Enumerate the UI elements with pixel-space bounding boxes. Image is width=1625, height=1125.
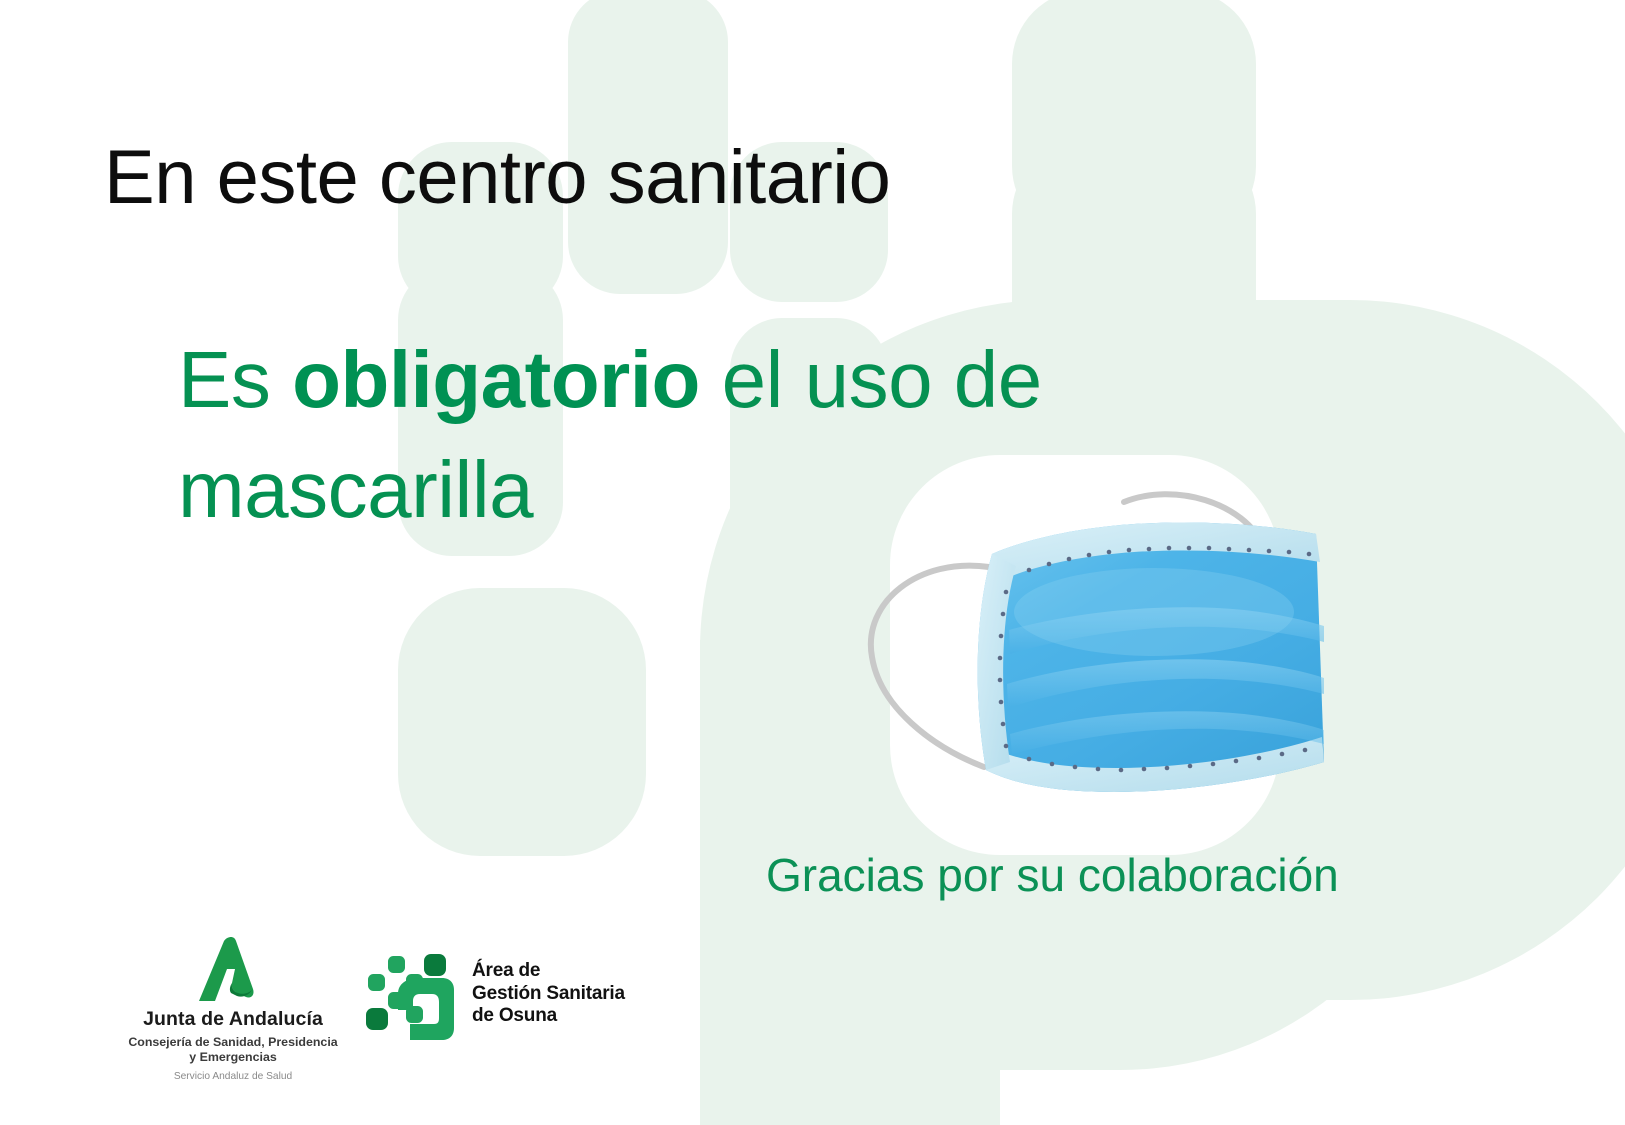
message-emphasis: obligatorio bbox=[292, 335, 700, 424]
message-prefix: Es bbox=[178, 335, 292, 424]
junta-footer: Servicio Andaluz de Salud bbox=[118, 1071, 348, 1082]
junta-title: Junta de Andalucía bbox=[118, 1008, 348, 1031]
junta-subtitle-line2: y Emergencias bbox=[118, 1050, 348, 1065]
ags-wordmark: Área de Gestión Sanitaria de Osuna bbox=[472, 960, 625, 1027]
poster-canvas: En este centro sanitario Es obligatorio … bbox=[0, 0, 1625, 1125]
page-title: En este centro sanitario bbox=[104, 140, 890, 216]
junta-de-andalucia-a-icon bbox=[191, 935, 275, 1005]
ags-osuna-dots-icon bbox=[358, 944, 458, 1044]
junta-subtitle: Consejería de Sanidad, Presidencia y Eme… bbox=[118, 1035, 348, 1065]
thanks-message: Gracias por su colaboración bbox=[766, 848, 1339, 902]
ags-line2: Gestión Sanitaria bbox=[472, 983, 625, 1005]
junta-subtitle-line1: Consejería de Sanidad, Presidencia bbox=[118, 1035, 348, 1050]
logo-junta-de-andalucia: Junta de Andalucía Consejería de Sanidad… bbox=[118, 935, 348, 1082]
ags-line3: de Osuna bbox=[472, 1005, 625, 1027]
logo-area-gestion-sanitaria: Área de Gestión Sanitaria de Osuna bbox=[358, 944, 625, 1044]
surgical-mask-image bbox=[824, 462, 1324, 814]
ags-line1: Área de bbox=[472, 960, 625, 982]
